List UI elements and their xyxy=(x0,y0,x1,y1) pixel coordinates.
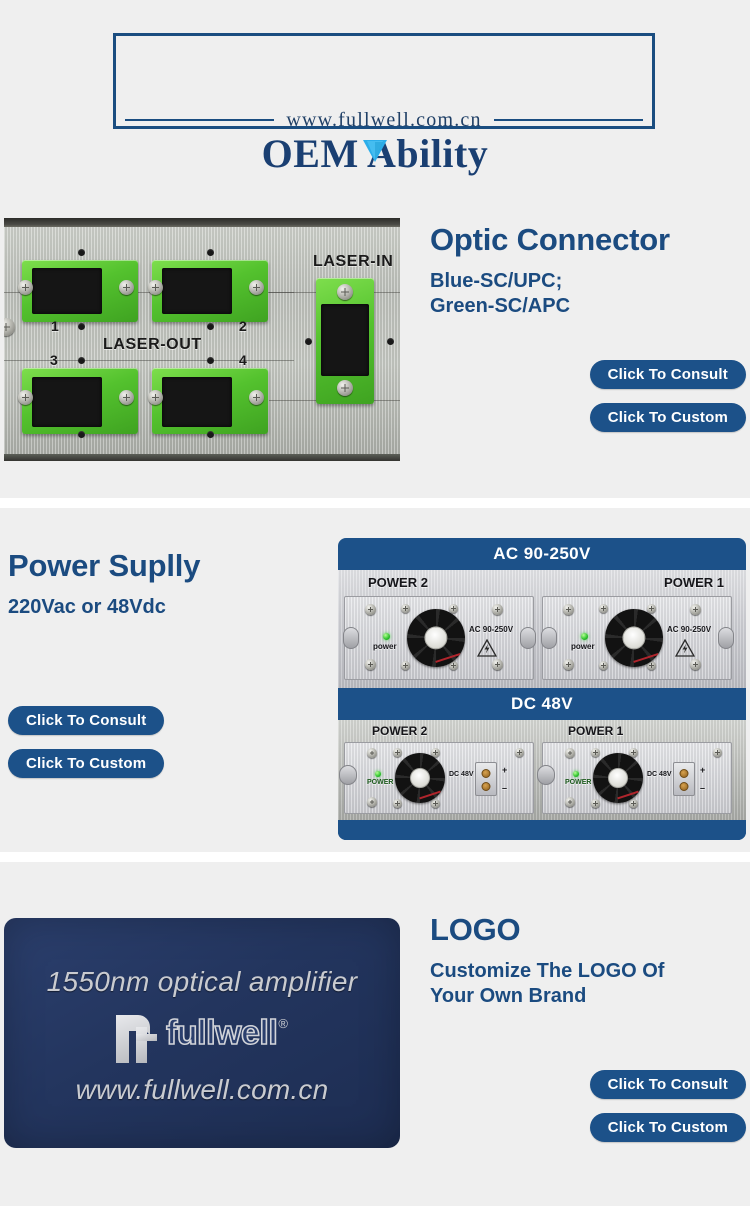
module-screw xyxy=(393,799,402,808)
power-2-label: POWER 2 xyxy=(372,724,427,738)
header-website-row: www.fullwell.com.cn xyxy=(125,105,643,135)
module-screw xyxy=(563,659,574,670)
click-to-consult-button[interactable]: Click To Consult xyxy=(590,1070,746,1099)
connector-screw xyxy=(148,390,163,405)
module-handle xyxy=(541,627,557,649)
mark-bar xyxy=(136,1034,157,1041)
module-screw xyxy=(367,748,377,758)
power-block-ac: AC 90-250V POWER 2 POWER 1 xyxy=(338,538,746,688)
faceplate-hole xyxy=(78,431,85,438)
section-subtitle: Customize The LOGO Of Your Own Brand xyxy=(430,959,746,1010)
power-led-label: POWER xyxy=(565,779,591,786)
polarity-minus-label: – xyxy=(502,783,507,793)
oem-ability-page: OEM Ability www.fullwell.com.cn xyxy=(0,0,750,1206)
module-screw xyxy=(591,799,600,808)
faceplate-hole xyxy=(387,338,394,345)
power-led-label: power xyxy=(373,642,397,651)
connector-window xyxy=(32,377,102,427)
module-handle xyxy=(718,627,734,649)
connector-window xyxy=(162,377,232,427)
power-led xyxy=(383,633,390,640)
cooling-fan xyxy=(605,609,663,667)
cooling-fan xyxy=(593,753,643,803)
faceplate-hole xyxy=(207,357,214,364)
faceplate-bottom-edge xyxy=(4,454,400,461)
section-optic-connector: 1 2 LASER-OUT 3 4 xyxy=(0,192,750,498)
power-1-label: POWER 1 xyxy=(568,724,623,738)
nameplate-website: www.fullwell.com.cn xyxy=(4,1074,400,1106)
connector-screw xyxy=(249,390,264,405)
click-to-custom-button[interactable]: Click To Custom xyxy=(8,749,164,778)
connector-screw xyxy=(119,280,134,295)
module-screw xyxy=(563,604,574,615)
module-handle xyxy=(537,765,555,785)
power-led xyxy=(375,771,381,777)
subtitle-line-1: Customize The LOGO Of xyxy=(430,959,746,985)
connector-screw xyxy=(337,284,353,300)
laser-in-label: LASER-IN xyxy=(313,253,393,271)
power-block-footer xyxy=(338,820,746,840)
laser-out-label: LASER-OUT xyxy=(103,336,202,354)
psu-rating-label: DC 48V xyxy=(449,771,474,778)
module-screw xyxy=(431,799,440,808)
fan-hub xyxy=(622,626,645,649)
module-screw xyxy=(690,604,701,615)
module-screw xyxy=(599,604,608,613)
header-website: www.fullwell.com.cn xyxy=(286,109,481,132)
fan-wire xyxy=(419,791,441,800)
fan-hub xyxy=(608,768,628,788)
faceplate-hole xyxy=(207,249,214,256)
module-screw xyxy=(515,748,524,757)
high-voltage-warning-icon xyxy=(477,639,497,657)
psu-rating-label: DC 48V xyxy=(647,771,672,778)
optic-connector-buttons: Click To Consult Click To Custom xyxy=(430,360,746,432)
dc-power-connector xyxy=(673,762,695,796)
module-screw xyxy=(599,661,608,670)
psu-module-2: power AC 90-250V xyxy=(344,596,534,680)
high-voltage-warning-icon xyxy=(675,639,695,657)
logo-copy: LOGO Customize The LOGO Of Your Own Bran… xyxy=(430,914,746,1010)
connector-window xyxy=(32,268,102,314)
module-screw xyxy=(591,748,600,757)
port-number-4: 4 xyxy=(239,352,247,368)
module-screw xyxy=(565,797,575,807)
section-title: Power Suplly xyxy=(8,550,318,583)
click-to-custom-button[interactable]: Click To Custom xyxy=(590,1113,746,1142)
connector-window xyxy=(162,268,232,314)
power-2-label: POWER 2 xyxy=(368,575,428,590)
module-handle xyxy=(520,627,536,649)
nameplate-product-line: 1550nm optical amplifier xyxy=(4,966,400,998)
module-screw xyxy=(449,604,458,613)
module-screw xyxy=(690,659,701,670)
polarity-plus-label: + xyxy=(502,765,507,775)
psu-rating-label: AC 90-250V xyxy=(469,625,513,634)
subtitle-line-2: Green-SC/APC xyxy=(430,294,746,320)
module-screw xyxy=(492,659,503,670)
click-to-custom-button[interactable]: Click To Custom xyxy=(590,403,746,432)
section-title: Optic Connector xyxy=(430,224,746,257)
module-screw xyxy=(365,659,376,670)
section-subtitle: Blue-SC/UPC; Green-SC/APC xyxy=(430,269,746,320)
header-section: OEM Ability www.fullwell.com.cn xyxy=(0,0,750,192)
module-handle xyxy=(339,765,357,785)
power-led-label: power xyxy=(571,642,595,651)
port-number-2: 2 xyxy=(239,318,247,334)
connector-pin xyxy=(680,782,689,791)
module-screw xyxy=(367,797,377,807)
connector-screw xyxy=(18,280,33,295)
module-screw xyxy=(492,604,503,615)
faceplate-hole xyxy=(78,357,85,364)
faceplate-hole xyxy=(78,323,85,330)
connector-screw xyxy=(249,280,264,295)
faceplate-hole xyxy=(207,323,214,330)
module-handle xyxy=(343,627,359,649)
power-block-ac-image: POWER 2 POWER 1 power xyxy=(338,570,746,688)
connector-screw xyxy=(119,390,134,405)
module-screw xyxy=(647,604,656,613)
port-number-1: 1 xyxy=(51,318,59,334)
psu-module-1: power AC 90-250V xyxy=(542,596,732,680)
psu-rating-label: AC 90-250V xyxy=(667,625,711,634)
power-block-dc-image: POWER 2 POWER 1 POWER xyxy=(338,720,746,820)
power-block-ac-caption: AC 90-250V xyxy=(338,538,746,570)
registered-trademark-icon: ® xyxy=(278,1016,288,1031)
logo-buttons: Click To Consult Click To Custom xyxy=(430,1070,746,1142)
connector-pin xyxy=(482,782,491,791)
click-to-consult-button[interactable]: Click To Consult xyxy=(8,706,164,735)
polarity-plus-label: + xyxy=(700,765,705,775)
dc-power-connector xyxy=(475,762,497,796)
cooling-fan xyxy=(407,609,465,667)
module-screw xyxy=(629,799,638,808)
power-supply-buttons: Click To Consult Click To Custom xyxy=(8,706,318,778)
section-logo: 1550nm optical amplifier fullwell ® www.… xyxy=(0,862,750,1168)
module-screw xyxy=(365,604,376,615)
polarity-minus-label: – xyxy=(700,783,705,793)
section-subtitle: 220Vac or 48Vdc xyxy=(8,595,318,621)
module-screw xyxy=(713,748,722,757)
power-led-label: POWER xyxy=(367,779,393,786)
cooling-fan xyxy=(395,753,445,803)
connector-screw xyxy=(148,280,163,295)
fullwell-mark-icon xyxy=(116,1015,164,1063)
section-title: LOGO xyxy=(430,914,746,947)
dc-module-2: POWER DC 48V + – xyxy=(344,742,534,814)
connector-pin xyxy=(482,769,491,778)
subtitle-line-2: Your Own Brand xyxy=(430,984,746,1010)
fan-wire xyxy=(617,791,639,800)
connector-screw xyxy=(337,380,353,396)
optic-connector-photo: 1 2 LASER-OUT 3 4 xyxy=(4,218,400,461)
power-supply-copy: Power Suplly 220Vac or 48Vdc xyxy=(8,550,318,620)
module-screw xyxy=(565,748,575,758)
connector-screw xyxy=(18,390,33,405)
power-block-dc: DC 48V POWER 2 POWER 1 xyxy=(338,688,746,840)
module-screw xyxy=(401,661,410,670)
brand-wordmark: fullwell xyxy=(166,1014,277,1053)
footer-spacer xyxy=(0,1168,750,1206)
faceplate-top-edge xyxy=(4,218,400,227)
power-1-label: POWER 1 xyxy=(664,575,724,590)
optic-connector-copy: Optic Connector Blue-SC/UPC; Green-SC/AP… xyxy=(430,224,746,320)
rule-left xyxy=(125,119,274,121)
fullwell-logo: fullwell ® xyxy=(4,1014,400,1063)
connector-pin xyxy=(680,769,689,778)
dc-module-1: POWER DC 48V + – xyxy=(542,742,732,814)
click-to-consult-button[interactable]: Click To Consult xyxy=(590,360,746,389)
faceplate-hole xyxy=(207,431,214,438)
faceplate-hole xyxy=(78,249,85,256)
power-led xyxy=(573,771,579,777)
module-screw xyxy=(393,748,402,757)
connector-window xyxy=(321,304,369,376)
power-led xyxy=(581,633,588,640)
faceplate-groove xyxy=(4,360,294,361)
rule-right xyxy=(494,119,643,121)
logo-nameplate-photo: 1550nm optical amplifier fullwell ® www.… xyxy=(4,918,400,1148)
fan-hub xyxy=(424,626,447,649)
subtitle-line-1: Blue-SC/UPC; xyxy=(430,269,746,295)
power-block-dc-caption: DC 48V xyxy=(338,688,746,720)
power-supply-photo: AC 90-250V POWER 2 POWER 1 xyxy=(338,538,746,840)
module-screw xyxy=(401,604,410,613)
faceplate-hole xyxy=(305,338,312,345)
fan-hub xyxy=(410,768,430,788)
port-number-3: 3 xyxy=(50,352,58,368)
section-power-supply: Power Suplly 220Vac or 48Vdc Click To Co… xyxy=(0,508,750,852)
mark-stem xyxy=(136,1027,147,1063)
chevron-down-arrow-icon xyxy=(363,140,387,162)
